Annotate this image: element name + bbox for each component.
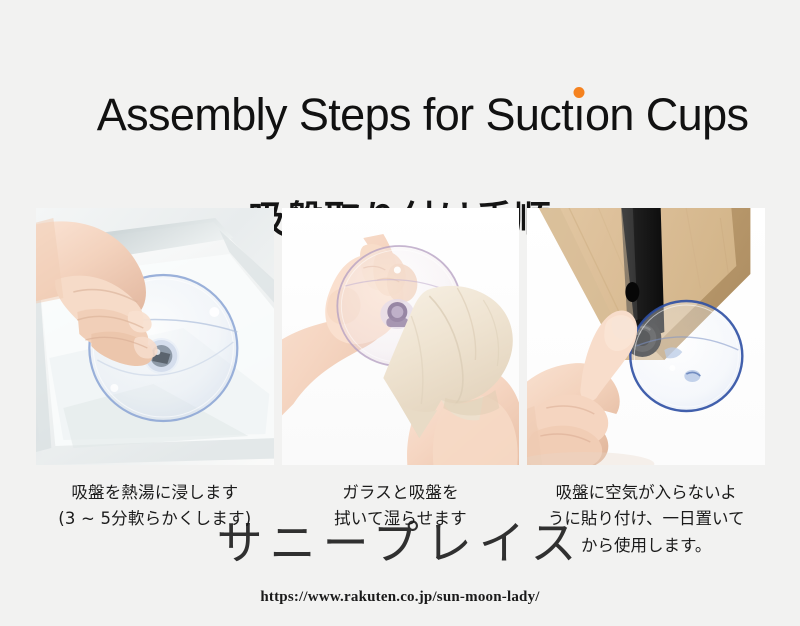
orange-dot-icon	[574, 87, 585, 98]
wiping-glass-and-suction-cup	[282, 208, 520, 465]
caption-step-1-line-1: 吸盤を熱湯に浸します	[36, 480, 274, 506]
suction-cup-soaking-in-hot-water	[36, 208, 274, 465]
caption-step-3-line-2: うに貼り付け、一日置いて	[527, 506, 765, 532]
page-title: Assembly Steps for Suctıon Cups	[0, 44, 800, 186]
photo-step-2	[282, 208, 520, 465]
page-title-part1: Assembly Steps for Suct	[97, 89, 573, 140]
caption-step-1: 吸盤を熱湯に浸します (3 ~ 5分軟らかくします)	[36, 480, 274, 559]
page-title-part2: on Cups	[585, 89, 748, 140]
caption-row: 吸盤を熱湯に浸します (3 ~ 5分軟らかくします) ガラスと吸盤を 拭いて湿ら…	[36, 480, 765, 559]
page-header: Assembly Steps for Suctıon Cups 吸盤取り付け手順	[0, 0, 800, 240]
photo-step-3	[527, 208, 765, 465]
photo-strip	[36, 208, 765, 465]
page-title-dotless-i: ı	[573, 91, 585, 138]
caption-step-1-line-2: (3 ~ 5分軟らかくします)	[36, 506, 274, 532]
caption-step-2-line-2: 拭いて湿らせます	[282, 506, 520, 532]
shop-url: https://www.rakuten.co.jp/sun-moon-lady/	[0, 589, 800, 606]
caption-step-3-line-3: から使用します。	[527, 533, 765, 559]
photo-step-1	[36, 208, 274, 465]
caption-step-2: ガラスと吸盤を 拭いて湿らせます	[282, 480, 520, 559]
caption-step-3-line-1: 吸盤に空気が入らないよ	[527, 480, 765, 506]
pressing-suction-cup-onto-board	[527, 208, 765, 465]
caption-step-3: 吸盤に空気が入らないよ うに貼り付け、一日置いて から使用します。	[527, 480, 765, 559]
caption-step-2-line-1: ガラスと吸盤を	[282, 480, 520, 506]
